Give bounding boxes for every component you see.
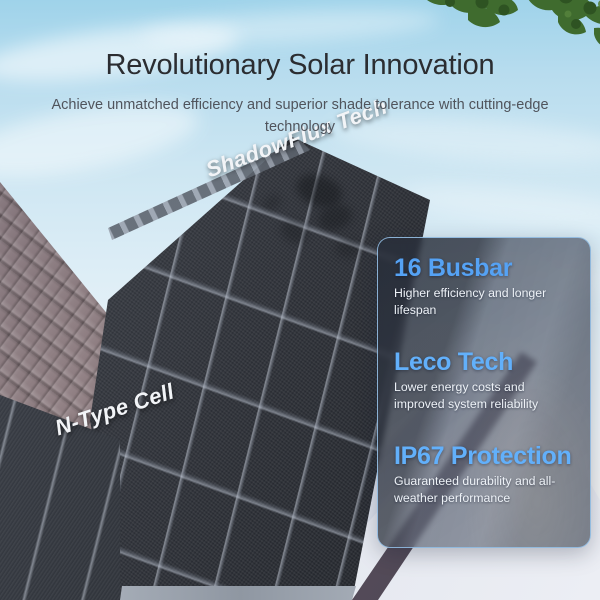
feature-block-busbar: 16 Busbar Higher efficiency and longer l… xyxy=(378,252,590,318)
page-subtitle: Achieve unmatched efficiency and superio… xyxy=(48,94,552,138)
feature-desc-busbar: Higher efficiency and longer lifespan xyxy=(394,285,574,318)
feature-block-ip67: IP67 Protection Guaranteed durability an… xyxy=(378,442,590,506)
feature-card: 16 Busbar Higher efficiency and longer l… xyxy=(377,237,591,548)
page-title: Revolutionary Solar Innovation xyxy=(0,48,600,82)
hero-banner: ShadowFlux Tech N-Type Cell Revolutionar… xyxy=(0,0,600,600)
feature-title-leco: Leco Tech xyxy=(394,348,574,376)
feature-title-ip67: IP67 Protection xyxy=(394,442,574,470)
feature-desc-ip67: Guaranteed durability and all-weather pe… xyxy=(394,473,574,506)
feature-title-busbar: 16 Busbar xyxy=(394,254,574,282)
feature-desc-leco: Lower energy costs and improved system r… xyxy=(394,379,574,412)
feature-block-leco: Leco Tech Lower energy costs and improve… xyxy=(378,348,590,412)
